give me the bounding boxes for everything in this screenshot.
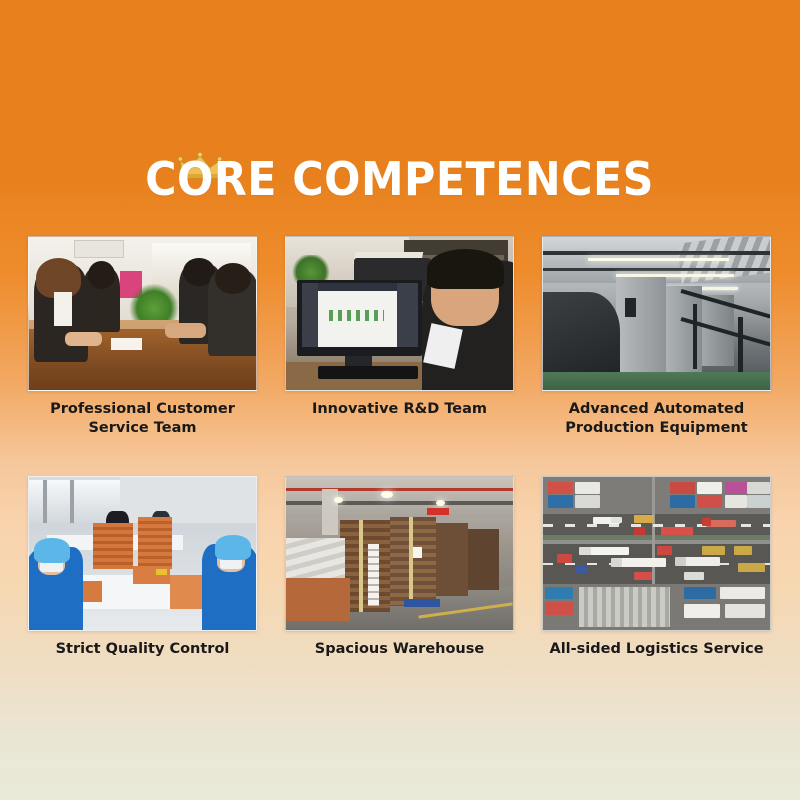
competence-caption: All-sided Logistics Service	[542, 640, 771, 659]
cad-designer-photo	[285, 236, 514, 391]
warehouse-pallets-photo	[285, 476, 514, 631]
competence-caption: Spacious Warehouse	[285, 640, 514, 659]
competence-card-professional-customer-service-team[interactable]: Professional Customer Service Team	[28, 236, 257, 438]
competence-card-advanced-automated-production-equipment[interactable]: Advanced Automated Production Equipment	[542, 236, 771, 438]
page-title: CORE COMPETENCES	[146, 152, 655, 206]
competence-card-innovative-rd-team[interactable]: Innovative R&D Team	[285, 236, 514, 438]
page-header: CORE COMPETENCES	[0, 152, 800, 206]
competence-caption: Advanced Automated Production Equipment	[542, 400, 771, 438]
quality-inspection-photo	[28, 476, 257, 631]
competence-caption: Strict Quality Control	[28, 640, 257, 659]
competence-caption: Innovative R&D Team	[285, 400, 514, 419]
printing-press-photo	[542, 236, 771, 391]
competences-grid: Professional Customer Service Team Innov…	[28, 236, 772, 659]
competence-card-all-sided-logistics-service[interactable]: All-sided Logistics Service	[542, 476, 771, 659]
competence-card-spacious-warehouse[interactable]: Spacious Warehouse	[285, 476, 514, 659]
competence-card-strict-quality-control[interactable]: Strict Quality Control	[28, 476, 257, 659]
aerial-logistics-yard-photo	[542, 476, 771, 631]
office-meeting-photo	[28, 236, 257, 391]
competences-row-2: Strict Quality Control Spacious Warehous…	[28, 476, 772, 659]
competences-row-1: Professional Customer Service Team Innov…	[28, 236, 772, 438]
competence-caption: Professional Customer Service Team	[28, 400, 257, 438]
